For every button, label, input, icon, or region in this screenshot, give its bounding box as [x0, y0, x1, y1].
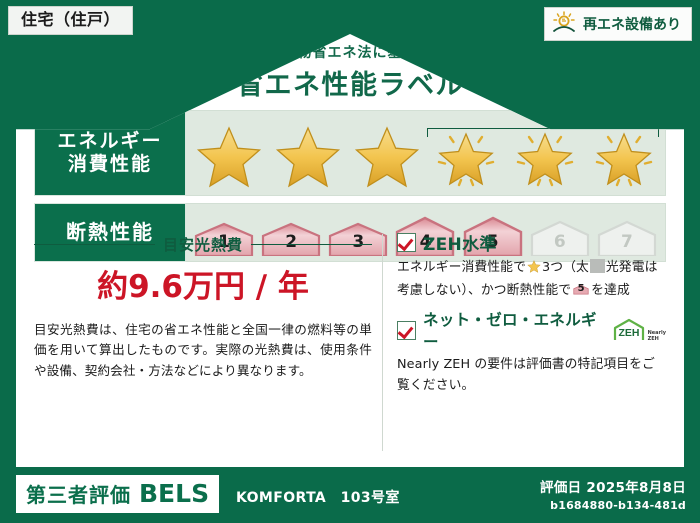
- star-rating: [190, 121, 663, 193]
- document-id: b1684880-b134-481d: [540, 499, 686, 512]
- energy-star-panel: 太陽光発電(自家消費)分: [186, 110, 666, 196]
- evaluation-date: 評価日 2025年8月8日: [540, 476, 686, 496]
- title-subtitle: 建築物省エネ法に基づく: [16, 42, 684, 62]
- zeh-standard-text: エネルギー消費性能で3つ（太光発電は考慮しない）、かつ断熱性能で5を達成: [397, 258, 666, 301]
- label-title: 建築物省エネ法に基づく 省エネ性能ラベル: [16, 42, 684, 102]
- star-solar: [426, 121, 505, 193]
- energy-performance-label: 住宅（住戸） 再エネ設備あり 建築物省エネ法に基づく 省エネ性能: [0, 0, 700, 523]
- energy-tag-line1: エネルギー: [57, 130, 162, 153]
- zeh-text-part4: を達成: [591, 283, 630, 298]
- zeh-standard-header: ZEH水準: [397, 230, 666, 255]
- house-type-chip: 住宅（住戸）: [8, 6, 133, 35]
- net-zero-energy-block: ネット・ゼロ・エネルギー ZEH Nearly ZEH: [397, 308, 666, 396]
- bels-badge-en: BELS: [139, 479, 209, 508]
- renewable-badge-label: 再エネ設備あり: [583, 14, 681, 34]
- zeh-column: ZEH水準 エネルギー消費性能で3つ（太光発電は考慮しない）、かつ断熱性能で5を…: [383, 230, 666, 461]
- utility-cost-value: 約9.6万円 / 年: [34, 261, 372, 306]
- heading-rule-right: [251, 244, 372, 245]
- utility-cost-column: 目安光熱費 約9.6万円 / 年 目安光熱費は、住宅の省エネ性能と全国一律の燃料…: [34, 230, 382, 461]
- net-zero-text: Nearly ZEH の要件は評価書の特記項目をご覧ください。: [397, 355, 666, 396]
- net-zero-title: ネット・ゼロ・エネルギー: [423, 308, 601, 352]
- star-solar: [505, 121, 584, 193]
- zeh-standard-block: ZEH水準 エネルギー消費性能で3つ（太光発電は考慮しない）、かつ断熱性能で5を…: [397, 230, 666, 301]
- star-filled: [269, 121, 348, 193]
- building-name: KOMFORTA 103号室: [236, 487, 400, 507]
- bels-badge: 第三者評価 BELS: [16, 475, 219, 513]
- redaction-box: [590, 259, 605, 273]
- lower-section: 目安光熱費 約9.6万円 / 年 目安光熱費は、住宅の省エネ性能と全国一律の燃料…: [34, 230, 666, 461]
- star-filled: [190, 121, 269, 193]
- checkbox-checked-icon[interactable]: [397, 321, 416, 340]
- utility-cost-note: 目安光熱費は、住宅の省エネ性能と全国一律の燃料等の単価を用いて算出したものです。…: [34, 320, 372, 381]
- zeh-standard-title: ZEH水準: [423, 230, 497, 255]
- mini-grade-icon: 5: [573, 282, 589, 297]
- label-panel: 建築物省エネ法に基づく 省エネ性能ラベル エネルギー 消費性能 太陽光発電(自家…: [16, 34, 684, 467]
- zeh-text-part2: 3つ（太: [542, 260, 589, 275]
- energy-tag-line2: 消費性能: [68, 153, 152, 176]
- zeh-text-part1: エネルギー消費性能で: [397, 260, 526, 275]
- footer-meta: 評価日 2025年8月8日 b1684880-b134-481d: [540, 476, 686, 512]
- solar-bracket-label: 太陽光発電(自家消費)分: [542, 113, 657, 128]
- sun-icon: [551, 11, 577, 37]
- zeh-logo-sub2: ZEH: [648, 337, 666, 343]
- energy-performance-tag: エネルギー 消費性能: [34, 110, 186, 196]
- checkbox-checked-icon[interactable]: [397, 233, 416, 252]
- net-zero-header: ネット・ゼロ・エネルギー ZEH Nearly ZEH: [397, 308, 666, 352]
- star-filled: [348, 121, 427, 193]
- title-main: 省エネ性能ラベル: [16, 63, 684, 102]
- utility-cost-heading-label: 目安光熱費: [163, 234, 243, 255]
- mini-grade-number: 5: [573, 281, 589, 297]
- zeh-logo-icon: ZEH Nearly ZEH: [612, 318, 666, 342]
- mini-star-icon: [527, 260, 541, 281]
- svg-text:ZEH: ZEH: [618, 327, 639, 339]
- label-footer: 第三者評価 BELS KOMFORTA 103号室 評価日 2025年8月8日 …: [0, 467, 700, 523]
- renewable-equipment-badge: 再エネ設備あり: [544, 7, 692, 41]
- bels-badge-jp: 第三者評価: [26, 479, 131, 508]
- star-solar: [584, 121, 663, 193]
- heading-rule-left: [34, 244, 155, 245]
- energy-performance-row: エネルギー 消費性能 太陽光発電(自家消費)分: [34, 110, 666, 196]
- utility-cost-heading: 目安光熱費: [34, 234, 372, 255]
